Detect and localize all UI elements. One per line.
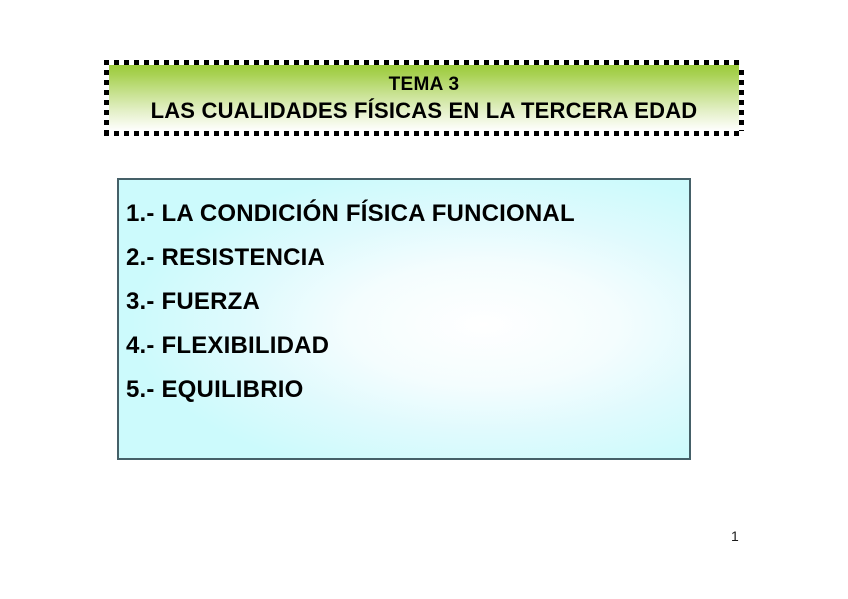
slide-canvas: TEMA 3 LAS CUALIDADES FÍSICAS EN LA TERC…	[0, 0, 848, 599]
page-number: 1	[731, 528, 739, 544]
title-line-1: TEMA 3	[389, 75, 460, 95]
content-box: 1.- LA CONDICIÓN FÍSICA FUNCIONAL 2.- RE…	[117, 178, 691, 460]
title-banner-gradient: TEMA 3 LAS CUALIDADES FÍSICAS EN LA TERC…	[109, 65, 739, 131]
list-item: 1.- LA CONDICIÓN FÍSICA FUNCIONAL	[126, 202, 689, 226]
topic-list: 1.- LA CONDICIÓN FÍSICA FUNCIONAL 2.- RE…	[119, 180, 689, 402]
title-banner: TEMA 3 LAS CUALIDADES FÍSICAS EN LA TERC…	[104, 60, 744, 136]
list-item: 5.- EQUILIBRIO	[126, 378, 689, 402]
list-item: 4.- FLEXIBILIDAD	[126, 334, 689, 358]
list-item: 2.- RESISTENCIA	[126, 246, 689, 270]
title-line-2: LAS CUALIDADES FÍSICAS EN LA TERCERA EDA…	[151, 98, 698, 123]
list-item: 3.- FUERZA	[126, 290, 689, 314]
